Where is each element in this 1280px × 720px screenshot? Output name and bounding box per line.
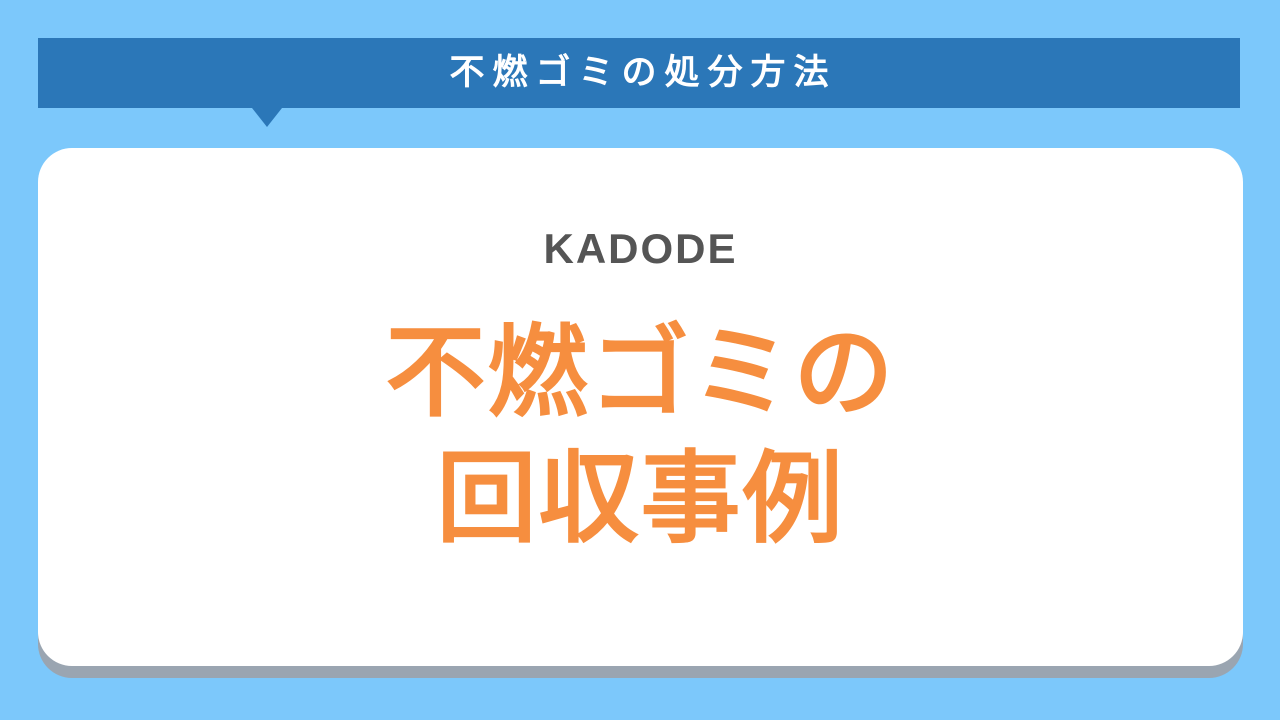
headline-line-2: 回収事例 <box>386 436 896 562</box>
headline-line-1: 不燃ゴミの <box>386 310 896 436</box>
header-banner: 不燃ゴミの処分方法 <box>38 38 1240 108</box>
content-card: KADODE 不燃ゴミの 回収事例 <box>38 148 1243 666</box>
headline: 不燃ゴミの 回収事例 <box>386 310 896 562</box>
brand-name: KADODE <box>543 228 737 270</box>
banner-pointer-triangle <box>252 108 282 127</box>
banner-title: 不燃ゴミの処分方法 <box>441 56 836 91</box>
slide-canvas: 不燃ゴミの処分方法 KADODE 不燃ゴミの 回収事例 <box>0 0 1280 720</box>
